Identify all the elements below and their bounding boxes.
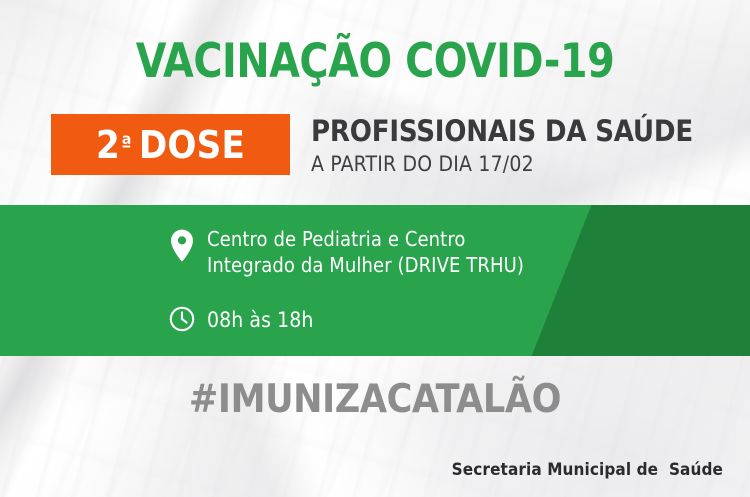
time-row: 08h às 18h bbox=[167, 304, 524, 334]
band-diagonal-accent bbox=[490, 205, 750, 356]
clock-icon bbox=[167, 304, 197, 332]
dose-badge: 2ªDOSE bbox=[51, 114, 290, 175]
dose-badge-number: 2 bbox=[96, 126, 120, 164]
time-text: 08h às 18h bbox=[207, 304, 313, 334]
page-title: VACINAÇÃO COVID-19 bbox=[23, 38, 728, 85]
campaign-hashtag: #IMUNIZACATALÃO bbox=[0, 380, 750, 419]
location-row: Centro de Pediatria e Centro Integrado d… bbox=[167, 227, 524, 278]
audience-label: PROFISSIONAIS DA SAÚDE bbox=[311, 116, 693, 147]
location-text: Centro de Pediatria e Centro Integrado d… bbox=[207, 227, 524, 278]
start-date-label: A PARTIR DO DIA 17/02 bbox=[311, 151, 693, 178]
details-band: Centro de Pediatria e Centro Integrado d… bbox=[0, 205, 750, 356]
dose-text-block: PROFISSIONAIS DA SAÚDE A PARTIR DO DIA 1… bbox=[311, 114, 693, 179]
details-content: Centro de Pediatria e Centro Integrado d… bbox=[167, 205, 524, 356]
dose-row: 2ªDOSE PROFISSIONAIS DA SAÚDE A PARTIR D… bbox=[51, 114, 693, 179]
vaccination-poster: VACINAÇÃO COVID-19 2ªDOSE PROFISSIONAIS … bbox=[0, 0, 750, 497]
issuer-label: Secretaria Municipal de Saúde bbox=[452, 460, 723, 480]
location-line-1: Centro de Pediatria e Centro bbox=[207, 227, 465, 251]
map-pin-icon bbox=[167, 227, 197, 262]
location-line-2: Integrado da Mulher (DRIVE TRHU) bbox=[207, 253, 524, 277]
dose-badge-word: DOSE bbox=[139, 126, 245, 164]
dose-badge-ordinal: ª bbox=[121, 134, 132, 155]
